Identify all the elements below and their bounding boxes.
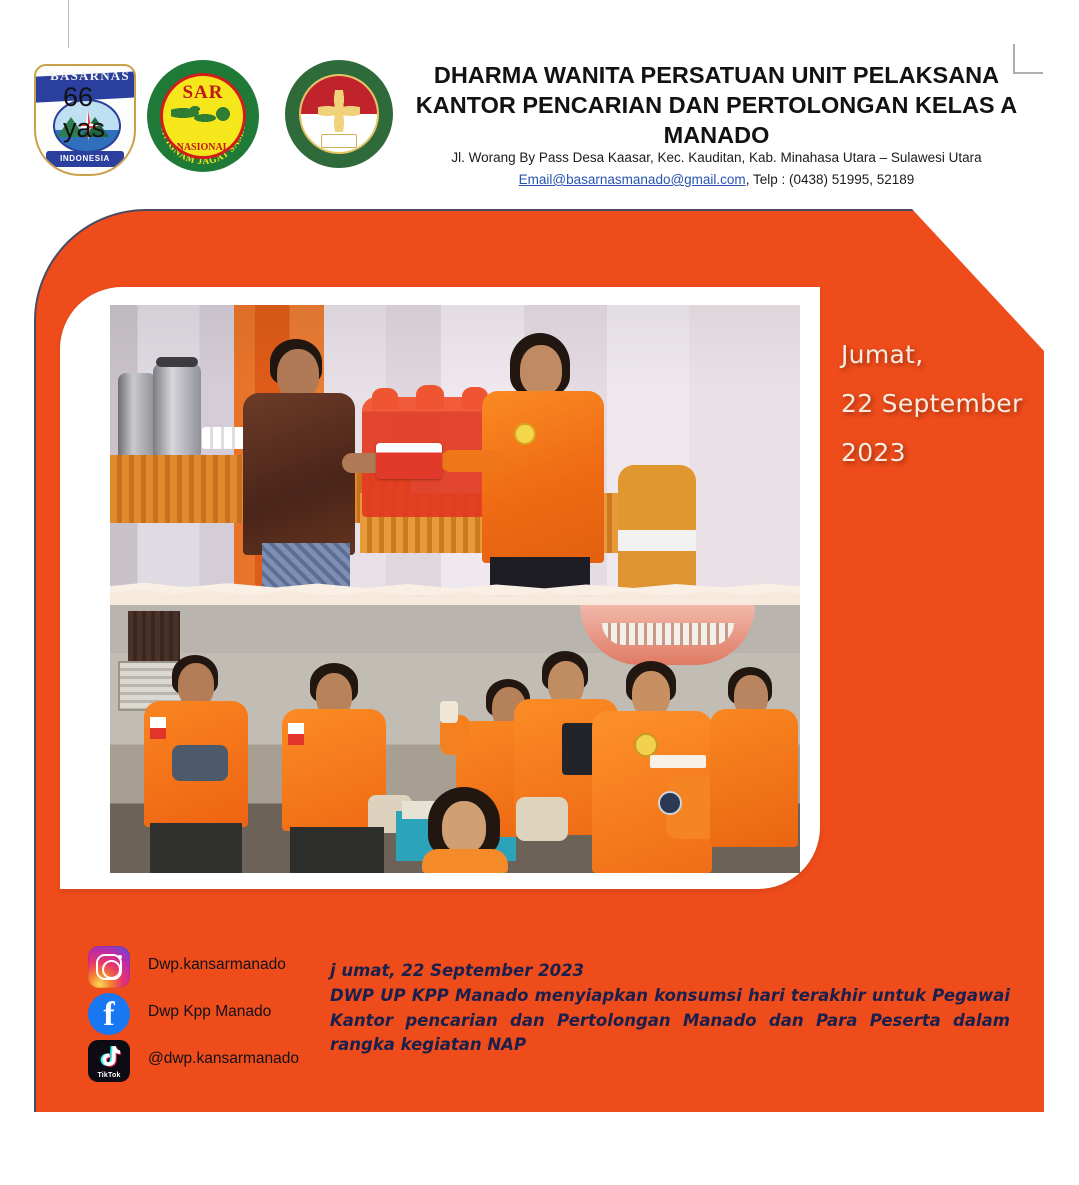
person1-sling-bag <box>172 745 228 781</box>
woman-right-arm <box>440 450 502 472</box>
woman-right-uniform <box>482 391 604 563</box>
caption-block: j umat, 22 September 2023 DWP UP KPP Man… <box>330 959 1010 1058</box>
anniversary-badge-text: 66 yas <box>63 82 138 144</box>
sar-inner-disc: SAR NASIONAL <box>160 73 246 159</box>
woman-left-batik-top <box>243 393 355 555</box>
food-parcel-b <box>516 797 568 841</box>
sar-wordmark: SAR <box>163 82 243 104</box>
flower-icon <box>318 90 360 132</box>
person1-trousers <box>150 823 242 873</box>
person6-uniform <box>710 709 798 847</box>
basarnas-logo: BASARNAS INDONESIA 66 yas <box>30 60 138 178</box>
date-line-3: 2023 <box>841 429 1041 478</box>
social-item-tiktok[interactable]: TikTok @dwp.kansarmanado <box>62 1040 352 1086</box>
woman-right-head <box>520 345 562 395</box>
social-item-facebook[interactable]: f Dwp Kpp Manado <box>62 993 352 1039</box>
organization-contact: Email@basarnasmanado@gmail.com, Telp : (… <box>404 172 1029 187</box>
book-icon <box>321 134 357 148</box>
red-food-box <box>376 443 442 479</box>
person2-flag-patch <box>288 723 304 745</box>
photo-card <box>60 287 820 889</box>
urn-lid <box>156 357 198 367</box>
phone-text: , Telp : (0438) 51995, 52189 <box>746 172 915 187</box>
event-date: Jumat, 22 September 2023 <box>841 331 1041 477</box>
facebook-handle: Dwp Kpp Manado <box>148 1003 271 1021</box>
tiktok-note-glyph <box>97 1045 121 1070</box>
facebook-icon[interactable]: f <box>88 993 130 1035</box>
page-margin-guide-left <box>68 0 69 48</box>
tiktok-wordmark: TikTok <box>88 1072 130 1079</box>
email-link[interactable]: Email@basarnasmanado@gmail.com <box>519 172 746 187</box>
instagram-handle: Dwp.kansarmanado <box>148 956 286 974</box>
instagram-icon[interactable] <box>88 946 130 988</box>
tiktok-handle: @dwp.kansarmanado <box>148 1050 299 1068</box>
social-media-list: Dwp.kansarmanado f Dwp Kpp Manado TikTok… <box>62 946 352 1087</box>
instagram-lens <box>102 960 121 979</box>
photo-group <box>110 605 800 873</box>
caption-date: j umat, 22 September 2023 <box>330 959 1010 984</box>
person2-trousers <box>290 827 384 873</box>
organization-address: Jl. Worang By Pass Desa Kaasar, Kec. Kau… <box>404 150 1029 165</box>
photo-stack <box>110 305 800 873</box>
seated-girl-head <box>442 801 486 853</box>
dwp-inner-disc <box>299 74 379 154</box>
water-urn-right <box>153 363 201 459</box>
photo-handover <box>110 305 800 595</box>
basarnas-nametape <box>650 755 706 768</box>
bag-handle-b <box>416 385 444 409</box>
dharma-wanita-logo <box>285 60 393 168</box>
snack-in-hand <box>440 701 458 723</box>
logo-row: BASARNAS INDONESIA 66 yas AVIGNAM JAGAT … <box>30 60 375 180</box>
sar-nasional-logo: AVIGNAM JAGAT SAMAGRAM SAR NASIONAL <box>147 60 259 172</box>
person5-badge <box>634 733 658 757</box>
woman-left-head <box>277 349 319 399</box>
poster-panel: Jumat, 22 September 2023 Dwp.kansarmanad… <box>34 209 1048 1116</box>
social-item-instagram[interactable]: Dwp.kansarmanado <box>62 946 352 992</box>
instagram-dot <box>118 955 122 959</box>
date-line-2: 22 September <box>841 380 1041 429</box>
backdrop-text-strip <box>602 623 734 645</box>
indonesia-map-icon <box>171 105 235 129</box>
seated-girl-top <box>422 849 508 873</box>
shield-ribbon: INDONESIA <box>46 151 124 167</box>
bag-handle-a <box>372 388 398 410</box>
organization-title: DHARMA WANITA PERSATUAN UNIT PELAKSANA K… <box>404 60 1029 150</box>
caption-body: DWP UP KPP Manado menyiapkan konsumsi ha… <box>330 986 1010 1055</box>
date-line-1: Jumat, <box>841 331 1041 380</box>
letterhead: BASARNAS INDONESIA 66 yas AVIGNAM JAGAT … <box>0 0 1079 200</box>
nasional-wordmark: NASIONAL <box>163 142 243 153</box>
tiktok-icon[interactable]: TikTok <box>88 1040 130 1082</box>
wrist-watch <box>658 791 682 815</box>
chair-cover <box>618 465 696 595</box>
uniform-badge <box>514 423 536 445</box>
facebook-f-glyph: f <box>88 995 130 1035</box>
water-urn-left <box>118 373 156 459</box>
person1-flag-patch <box>150 717 166 739</box>
ribbon-label: INDONESIA <box>46 151 124 167</box>
